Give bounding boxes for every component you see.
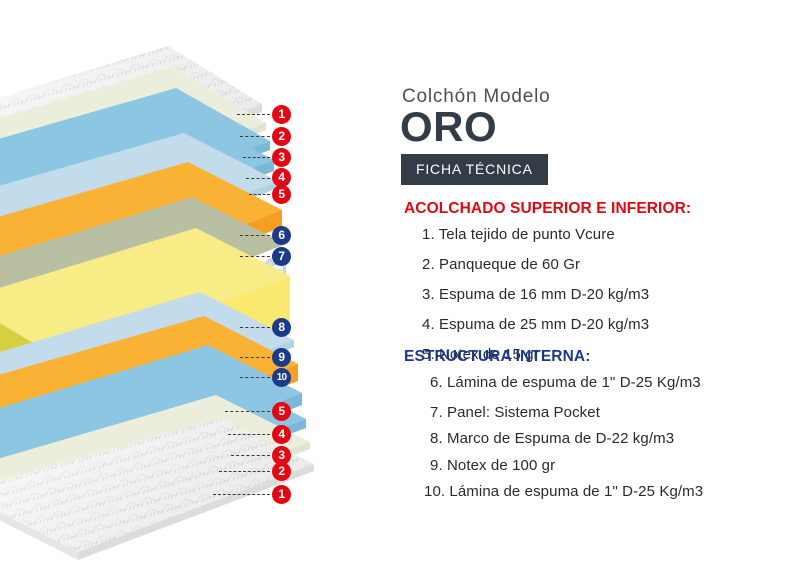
section-heading-acolchado: ACOLCHADO SUPERIOR E INFERIOR:: [404, 200, 691, 218]
callout-badge-1-bottom[interactable]: 1: [272, 485, 291, 504]
technical-sheet-page: 1 2 3 4 5 6 7 8 9 10 5 4 3 2 1 Colchón M…: [0, 0, 800, 588]
leader-line: [225, 411, 270, 412]
spec-item-6: 6. Lámina de espuma de 1" D-25 Kg/m3: [430, 374, 701, 391]
leader-line: [249, 194, 270, 195]
spec-item-2: 2. Panqueque de 60 Gr: [422, 256, 580, 273]
leader-line: [246, 178, 270, 179]
spec-item-10: 10. Lámina de espuma de 1" D-25 Kg/m3: [424, 483, 703, 500]
ficha-tecnica-badge: FICHA TÉCNICA: [401, 154, 548, 185]
leader-line: [237, 114, 270, 115]
product-model-name: ORO: [400, 106, 497, 148]
leader-line: [240, 357, 270, 358]
leader-line: [240, 377, 270, 378]
leader-line: [240, 327, 270, 328]
leader-line: [213, 494, 270, 495]
leader-line: [243, 157, 270, 158]
callout-badge-6[interactable]: 6: [272, 226, 291, 245]
callout-badge-9[interactable]: 9: [272, 348, 291, 367]
callout-badge-5-bottom[interactable]: 5: [272, 402, 291, 421]
leader-line: [228, 434, 270, 435]
callout-badge-5-top[interactable]: 5: [272, 185, 291, 204]
spec-item-4: 4. Espuma de 25 mm D-20 kg/m3: [422, 316, 649, 333]
callout-badge-1-top[interactable]: 1: [272, 105, 291, 124]
leader-line: [219, 471, 270, 472]
exploded-mattress-diagram: [0, 0, 320, 588]
section-heading-estructura: ESTRUCTURA INTERNA:: [404, 348, 590, 366]
spec-panel: Colchón Modelo ORO FICHA TÉCNICA ACOLCHA…: [398, 0, 800, 588]
callout-badge-8[interactable]: 8: [272, 318, 291, 337]
callout-badge-2-top[interactable]: 2: [272, 127, 291, 146]
spec-item-1: 1. Tela tejido de punto Vcure: [422, 226, 615, 243]
spec-item-3: 3. Espuma de 16 mm D-20 kg/m3: [422, 286, 649, 303]
leader-line: [240, 235, 270, 236]
callout-badge-7[interactable]: 7: [272, 247, 291, 266]
callout-badge-4-bottom[interactable]: 4: [272, 425, 291, 444]
leader-line: [231, 455, 270, 456]
callout-badge-2-bottom[interactable]: 2: [272, 462, 291, 481]
spec-item-9: 9. Notex de 100 gr: [430, 457, 555, 474]
spec-item-7: 7. Panel: Sistema Pocket: [430, 404, 600, 421]
leader-line: [240, 136, 270, 137]
leader-line: [240, 256, 270, 257]
callout-badge-3-top[interactable]: 3: [272, 148, 291, 167]
spec-item-8: 8. Marco de Espuma de D-22 kg/m3: [430, 430, 674, 447]
callout-badge-10[interactable]: 10: [272, 368, 291, 387]
